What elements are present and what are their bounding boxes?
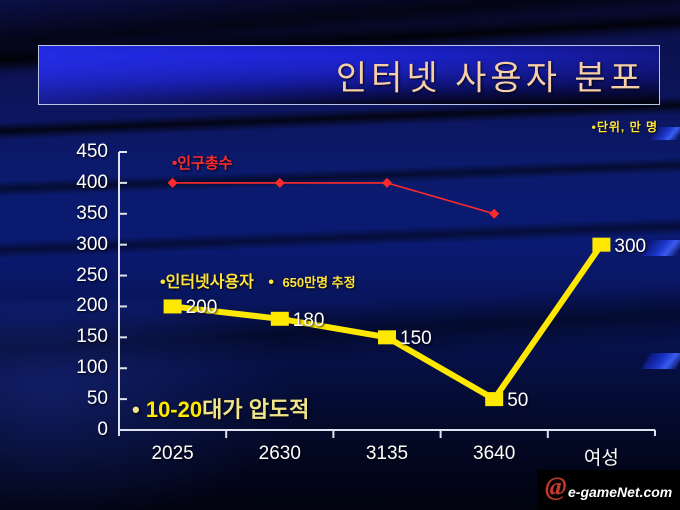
y-axis-tick-label: 0 [46, 419, 108, 441]
y-axis-tick-label: 150 [46, 326, 108, 348]
x-axis-tick-label: 2025 [151, 443, 193, 465]
y-axis-tick-label: 400 [46, 172, 108, 194]
series-marker-square [164, 299, 182, 313]
x-axis-tick-label: 3135 [366, 443, 408, 465]
at-icon: @ [545, 474, 567, 500]
data-point-label: 300 [614, 236, 646, 258]
estimate-bullet: • [258, 274, 274, 291]
bottom-callout-bullet: • [132, 397, 140, 422]
bottom-callout-highlight: 10-20 [146, 397, 202, 422]
data-point-label: 50 [507, 390, 528, 412]
series-marker-diamond [275, 178, 285, 188]
y-axis-labels: 050100150200250300350400450 [42, 0, 108, 510]
y-axis-tick-label: 450 [46, 141, 108, 163]
x-axis-tick-label: 3640 [473, 443, 515, 465]
y-axis-ticks [119, 152, 127, 430]
series-marker-diamond [168, 178, 178, 188]
series-marker-square [271, 312, 289, 326]
page-title: 인터넷 사용자 분포 [336, 51, 645, 100]
x-axis-tick-label: 여성 [584, 443, 619, 470]
population-series-label: •인구총수 [172, 152, 232, 173]
y-axis-tick-label: 100 [46, 357, 108, 379]
y-axis-tick-label: 300 [46, 234, 108, 256]
internet-users-label-text: •인터넷사용자 [160, 274, 254, 291]
y-axis-tick-label: 200 [46, 295, 108, 317]
y-axis-tick-label: 350 [46, 203, 108, 225]
series-marker-diamond [489, 209, 499, 219]
data-point-label: 200 [186, 297, 218, 319]
x-axis-tick-label: 2630 [259, 443, 301, 465]
data-point-label: 180 [293, 310, 325, 332]
series-population-line [168, 178, 500, 219]
series-polyline [173, 183, 495, 214]
estimate-text: 650만명 추정 [278, 275, 355, 290]
data-point-label: 150 [400, 328, 432, 350]
logo-text: e-gameNet.com [568, 484, 672, 500]
y-axis-tick-label: 250 [46, 265, 108, 287]
bottom-callout-rest: 대가 압도적 [202, 397, 309, 422]
series-internet-users-line [164, 238, 611, 406]
internet-users-series-label: •인터넷사용자 • 650만명 추정 [160, 268, 356, 292]
egamenet-logo: @ e-gameNet.com [537, 470, 680, 510]
y-axis-tick-label: 50 [46, 388, 108, 410]
series-marker-square [592, 238, 610, 252]
bottom-callout: • 10-20대가 압도적 [132, 392, 309, 424]
x-axis-ticks [119, 430, 655, 438]
slide-canvas: 인터넷 사용자 분포 •단위, 만 명 05010015020025030035… [0, 0, 680, 510]
series-marker-diamond [382, 178, 392, 188]
series-marker-square [485, 392, 503, 406]
series-marker-square [378, 330, 396, 344]
